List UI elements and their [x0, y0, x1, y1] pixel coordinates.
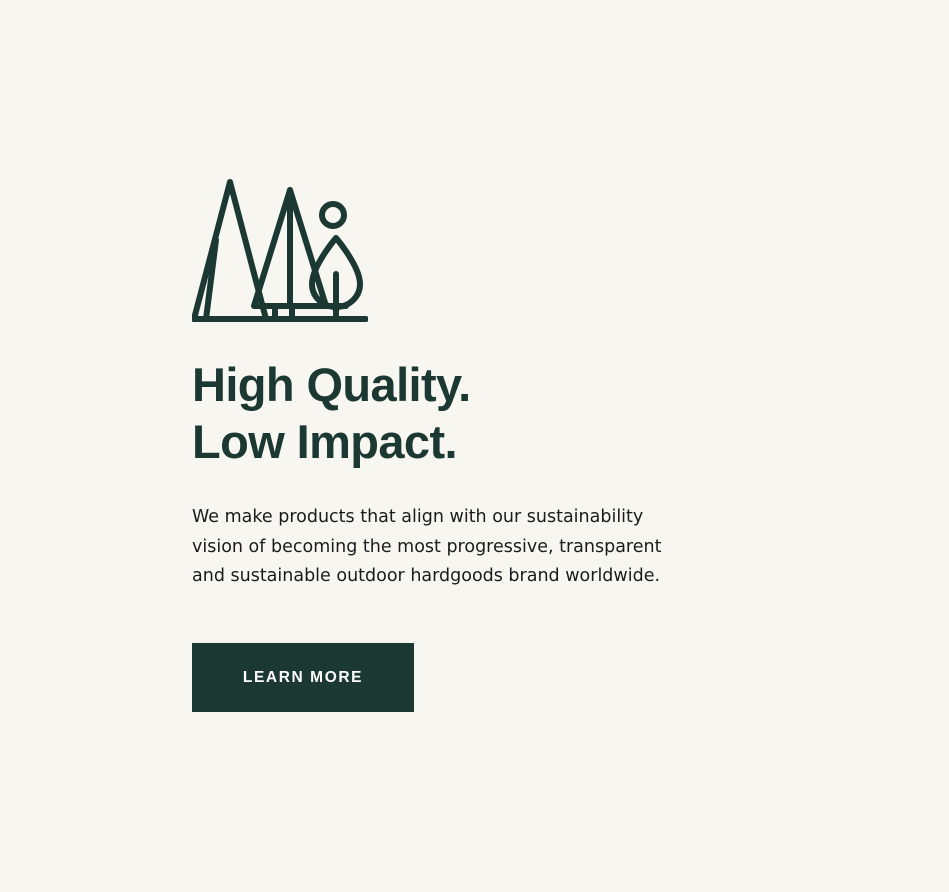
body-line-1: We make products that align with our sus… [192, 503, 712, 533]
hero-section: High Quality. Low Impact. We make produc… [192, 0, 892, 892]
headline-line-2: Low Impact. [192, 413, 812, 470]
headline-line-1: High Quality. [192, 356, 812, 413]
learn-more-button[interactable]: LEARN MORE [192, 643, 414, 712]
body-line-3: and sustainable outdoor hardgoods brand … [192, 562, 712, 592]
mountains-trees-sun-icon [192, 178, 368, 326]
sun-circle-icon [322, 204, 344, 226]
body-line-2: vision of becoming the most progressive,… [192, 533, 712, 563]
body-paragraph: We make products that align with our sus… [192, 503, 712, 592]
page-title: High Quality. Low Impact. [192, 356, 812, 470]
mountains-trees-sun-icon-svg [192, 178, 368, 326]
